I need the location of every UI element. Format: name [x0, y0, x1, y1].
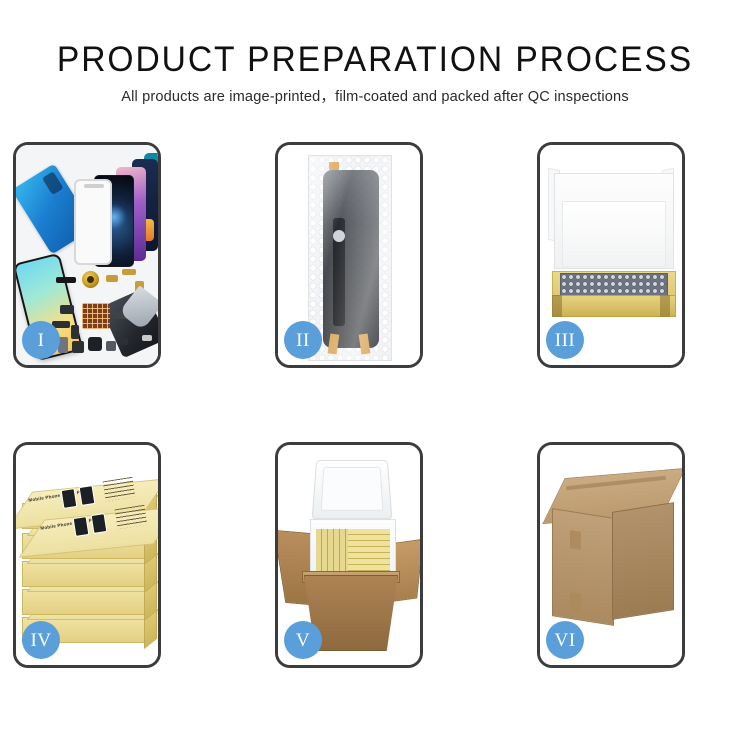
- carton-front-icon: [552, 508, 614, 626]
- part-icon: [120, 337, 128, 345]
- part-icon: [88, 337, 102, 351]
- part-icon: [71, 325, 79, 339]
- part-icon: [106, 275, 118, 282]
- yellow-box-front-icon: [552, 295, 676, 317]
- step-badge-1: I: [22, 321, 60, 359]
- step-badge-2: II: [284, 321, 322, 359]
- box-corner-right-icon: [660, 295, 670, 317]
- box-label-screen-image: [61, 488, 78, 509]
- step-badge-6: VI: [546, 621, 584, 659]
- page-subtitle: All products are image-printed，film-coat…: [0, 77, 750, 105]
- foam-sheet-icon: [562, 201, 666, 267]
- step-panel-2[interactable]: II: [275, 142, 423, 368]
- box-corner-left-icon: [552, 295, 562, 317]
- part-icon: [56, 277, 76, 283]
- carton-side-icon: [612, 502, 674, 620]
- screen-glass-icon: [74, 179, 112, 265]
- coil-part-icon: [82, 271, 99, 288]
- process-steps-grid: I II: [13, 142, 737, 690]
- step-panel-6[interactable]: VI: [537, 442, 685, 668]
- box-label-screen-image: [79, 485, 96, 506]
- part-icon: [122, 269, 136, 275]
- tape-tab-icon: [328, 333, 340, 354]
- product-preparation-page: PRODUCT PREPARATION PROCESS All products…: [0, 0, 750, 750]
- lcd-screen-icon: [323, 170, 379, 348]
- box-column-right: [348, 529, 390, 573]
- connector-dot-icon: [333, 230, 345, 242]
- step-panel-3[interactable]: III: [537, 142, 685, 368]
- step-badge-3: III: [546, 321, 584, 359]
- step-panel-1[interactable]: I: [13, 142, 161, 368]
- box-label-screen-image: [73, 516, 90, 537]
- bubble-wrapped-contents-icon: [560, 273, 668, 297]
- page-title: PRODUCT PREPARATION PROCESS: [15, 0, 735, 77]
- step-badge-4: IV: [22, 621, 60, 659]
- bubble-wrap-bag-icon: [308, 155, 392, 361]
- carton-tape-icon: [570, 592, 581, 612]
- part-icon: [106, 341, 116, 351]
- packed-yellow-boxes-icon: [316, 529, 390, 573]
- chip-grid-icon: [82, 303, 110, 329]
- part-icon: [142, 335, 152, 341]
- stacked-box-item: [22, 589, 146, 615]
- tape-tab-icon: [329, 162, 339, 170]
- part-icon: [60, 305, 74, 314]
- box-label-screen-image: [91, 513, 108, 534]
- step-panel-4[interactable]: Mobile Phone Spare Parts Mobile Phone Sp…: [13, 442, 161, 668]
- part-icon: [72, 341, 84, 353]
- step-panel-5[interactable]: V: [275, 442, 423, 668]
- stacked-box-item: [22, 561, 146, 587]
- page-header: PRODUCT PREPARATION PROCESS All products…: [0, 0, 750, 105]
- step-badge-5: V: [284, 621, 322, 659]
- foam-lid-icon: [312, 460, 393, 519]
- box-column-left: [316, 529, 348, 573]
- carton-tape-icon: [570, 530, 581, 550]
